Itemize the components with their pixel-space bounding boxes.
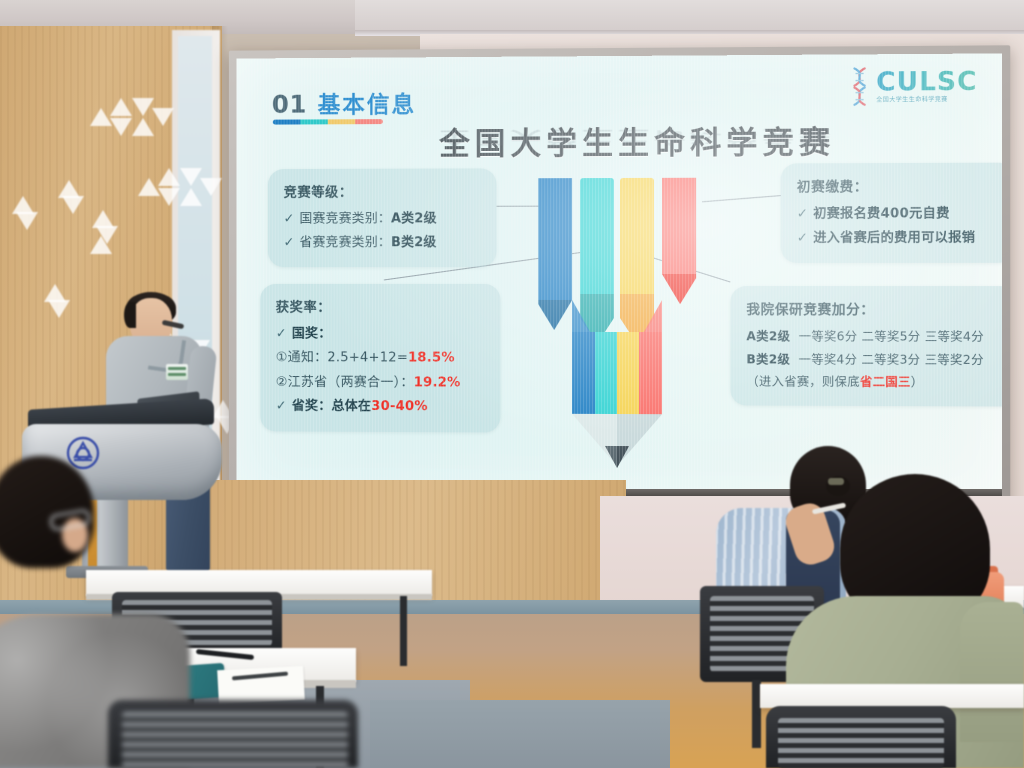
rate-provincial-label: 省奖：总体在 <box>292 399 371 414</box>
bonus-row-0: A类2级 一等奖6分 二等奖5分 三等奖4分 <box>746 325 1000 348</box>
bonus-row-1: B类2级 一等奖4分 二等奖3分 三等奖2分 <box>746 348 1000 371</box>
bonus-heading: 我院保研竞赛加分： <box>746 298 1000 323</box>
rate-line-0: ①通知：2.5+4+12=18.5% <box>276 347 485 372</box>
bonus-note-highlight: 省二国三 <box>860 375 911 389</box>
presenter-hair-side <box>124 302 136 328</box>
check-icon: ✓ <box>797 207 808 222</box>
check-icon: ✓ <box>276 326 287 341</box>
box-grade-item-0: ✓国赛竞赛类别：A类2级 <box>284 207 481 231</box>
slide-section-header: 01 基本信息 <box>272 85 416 119</box>
box-fee-heading: 初赛缴费： <box>797 175 998 201</box>
chair-foreground-slats <box>122 712 348 768</box>
culsc-logo: CULSC 全国大学生生命科学竞赛 <box>849 66 978 107</box>
callout-box-award-rate: 获奖率： ✓国奖： ①通知：2.5+4+12=18.5% ②江苏省（两赛合一）：… <box>260 284 500 432</box>
presenter-name-badge <box>166 364 188 380</box>
box-grade-item-0-bold: A类2级 <box>391 211 437 226</box>
lecture-room-scene: 01 基本信息 全国大学生生命科学竞赛 全国大学生生命科学竞赛 <box>0 0 1024 768</box>
bonus-note-suffix: ） <box>911 375 924 389</box>
box-fee-item-1: ✓进入省赛后的费用可以报销 <box>797 226 998 250</box>
attendee-b-arm <box>960 602 1024 742</box>
box-grade-heading: 竞赛等级： <box>284 180 481 205</box>
rate-line-1: ②江苏省（两赛合一）：19.2% <box>276 371 485 396</box>
bonus-note: （进入省赛，则保底省二国三） <box>746 370 1000 394</box>
logo-main-text: CULSC <box>876 69 977 96</box>
chair-right-lower-slats <box>778 718 944 768</box>
rate-provincial-value: 30-40% <box>371 399 427 414</box>
bonus-row-0-detail: 一等奖6分 二等奖5分 三等奖4分 <box>799 329 984 343</box>
rate-line-0-value: 18.5% <box>408 351 455 366</box>
section-title: 基本信息 <box>318 85 416 119</box>
floor-gray-area-2 <box>370 700 670 768</box>
callout-box-bonus: 我院保研竞赛加分： A类2级 一等奖6分 二等奖5分 三等奖4分 B类2级 一等… <box>730 286 1002 406</box>
check-icon: ✓ <box>797 231 808 246</box>
box-grade-item-1-text: 省赛竞赛类别： <box>299 235 391 250</box>
box-grade-item-0-text: 国赛竞赛类别： <box>299 211 391 226</box>
section-number: 01 <box>272 90 307 119</box>
paper-sheet <box>217 666 305 704</box>
rate-line-1-prefix: ②江苏省（两赛合一）： <box>276 375 414 390</box>
rate-line-0-prefix: ①通知：2.5+4+12= <box>276 351 408 366</box>
box-fee-item-0-text: 初赛报名费400元自费 <box>813 206 949 221</box>
desk-middle-leg <box>400 596 407 666</box>
callout-box-grade: 竞赛等级： ✓国赛竞赛类别：A类2级 ✓省赛竞赛类别：B类2级 <box>268 168 497 267</box>
accent-bar <box>273 119 383 124</box>
rate-heading: 获奖率： <box>276 296 485 321</box>
logo-text: CULSC 全国大学生生命科学竞赛 <box>876 69 977 104</box>
attendee-a-hair-clip <box>828 478 844 485</box>
dna-helix-icon <box>849 66 871 106</box>
projection-screen: 01 基本信息 全国大学生生命科学竞赛 全国大学生生命科学竞赛 <box>237 53 1002 502</box>
check-icon: ✓ <box>276 399 287 414</box>
logo-sub-text: 全国大学生生命科学竞赛 <box>876 97 977 104</box>
pencil-funnel-diagram <box>532 174 702 475</box>
rate-national-label: ✓国奖： <box>276 323 485 348</box>
box-fee-item-1-text: 进入省赛后的费用可以报销 <box>813 231 975 246</box>
box-grade-item-1: ✓省赛竞赛类别：B类2级 <box>284 231 481 255</box>
rate-national-text: 国奖： <box>292 326 332 341</box>
bonus-row-1-detail: 一等奖4分 二等奖3分 三等奖2分 <box>799 352 984 367</box>
presentation-slide: 01 基本信息 全国大学生生命科学竞赛 全国大学生生命科学竞赛 <box>237 53 1002 502</box>
slide-title-reflection: 全国大学生生命科学竞赛 <box>439 125 835 151</box>
bonus-row-1-grade: B类2级 <box>746 352 790 366</box>
box-grade-item-1-bold: B类2级 <box>391 235 437 250</box>
desk-right-lower <box>760 684 1024 708</box>
rate-provincial: ✓省奖：总体在30-40% <box>276 395 485 420</box>
bonus-note-prefix: （进入省赛，则保底 <box>746 374 860 388</box>
check-icon: ✓ <box>284 235 295 250</box>
box-fee-item-0: ✓初赛报名费400元自费 <box>797 202 998 227</box>
ceiling-soffit <box>355 0 1024 34</box>
bonus-row-0-grade: A类2级 <box>746 329 790 343</box>
rate-line-1-value: 19.2% <box>414 375 461 390</box>
check-icon: ✓ <box>284 212 295 227</box>
callout-box-fee: 初赛缴费： ✓初赛报名费400元自费 ✓进入省赛后的费用可以报销 <box>781 163 1002 263</box>
